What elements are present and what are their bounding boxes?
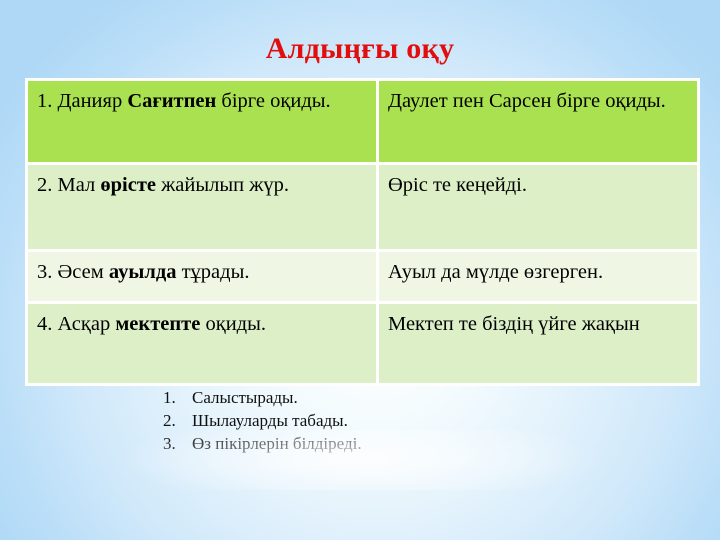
- table-cell-left: 1. Данияр Сағитпен бірге оқиды.: [25, 78, 379, 165]
- list-item: Салыстырады.: [180, 386, 362, 409]
- sentence-suffix: тұрады.: [176, 261, 249, 283]
- table-cell-right: Даулет пен Сарсен бірге оқиды.: [379, 78, 700, 165]
- sentence-prefix: 1. Данияр: [37, 90, 127, 112]
- table-row: 4. Асқар мектепте оқиды. Мектеп те бізді…: [25, 304, 700, 386]
- table-row: 2. Мал өрісте жайылып жүр. Өріс те кеңей…: [25, 165, 700, 252]
- table-row: 3. Әсем ауылда тұрады. Ауыл да мүлде өзг…: [25, 252, 700, 304]
- sentence-prefix: 2. Мал: [37, 174, 100, 196]
- table-cell-right: Өріс те кеңейді.: [379, 165, 700, 252]
- sentence-prefix: 3. Әсем: [37, 261, 109, 283]
- table-cell-right: Мектеп те біздің үйге жақын: [379, 304, 700, 386]
- table-cell-left: 3. Әсем ауылда тұрады.: [25, 252, 379, 304]
- sentence-prefix: 4. Асқар: [37, 313, 115, 335]
- takeaways-list: Салыстырады. Шылауларды табады. Өз пікір…: [152, 386, 362, 455]
- sentence-keyword: мектепте: [115, 313, 200, 335]
- sentence-suffix: жайылып жүр.: [156, 174, 289, 196]
- slide-canvas: Алдыңғы оқу 1. Данияр Сағитпен бірге оқи…: [0, 0, 720, 540]
- sentence-suffix: бірге оқиды.: [216, 90, 330, 112]
- sentence-keyword: ауылда: [109, 261, 177, 283]
- table-cell-left: 2. Мал өрісте жайылып жүр.: [25, 165, 379, 252]
- page-title: Алдыңғы оқу: [0, 30, 720, 68]
- comparison-table: 1. Данияр Сағитпен бірге оқиды. Даулет п…: [25, 78, 700, 386]
- sentence-keyword: Сағитпен: [127, 90, 216, 112]
- table-row: 1. Данияр Сағитпен бірге оқиды. Даулет п…: [25, 78, 700, 165]
- table-cell-left: 4. Асқар мектепте оқиды.: [25, 304, 379, 386]
- sentence-keyword: өрісте: [100, 174, 156, 196]
- list-item: Өз пікірлерін білдіреді.: [180, 432, 362, 455]
- sentence-suffix: оқиды.: [200, 313, 266, 335]
- table-cell-right: Ауыл да мүлде өзгерген.: [379, 252, 700, 304]
- list-item: Шылауларды табады.: [180, 409, 362, 432]
